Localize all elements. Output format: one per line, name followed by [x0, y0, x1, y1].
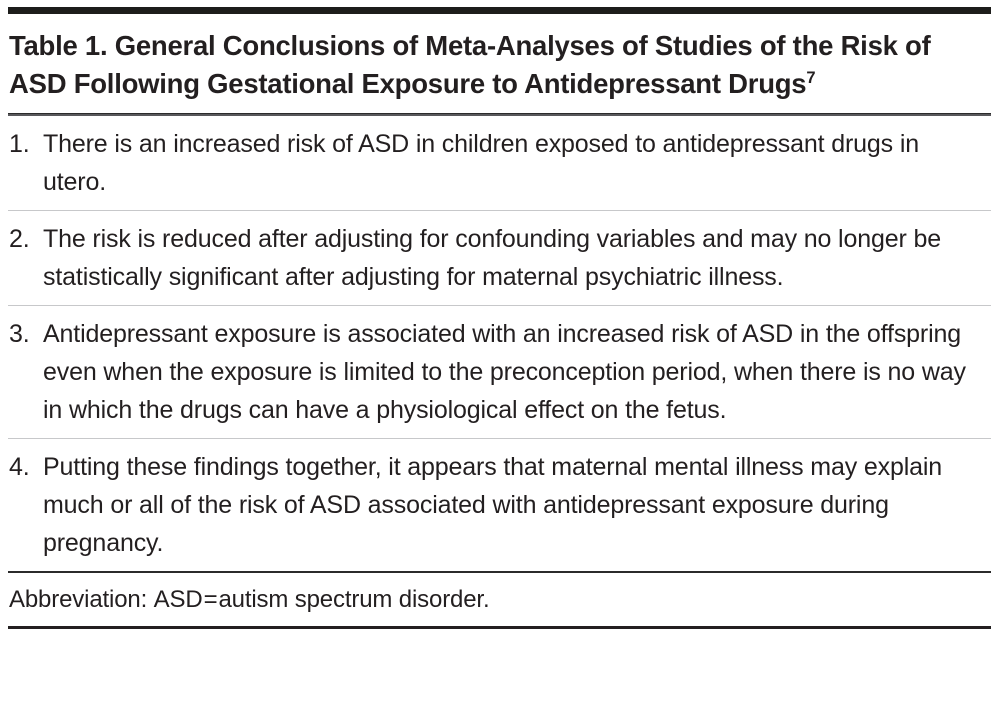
- table-bottom-rule: [8, 626, 991, 629]
- table-row: 2. The risk is reduced after adjusting f…: [8, 211, 991, 305]
- table-footnote: Abbreviation: ASD=autism spectrum disord…: [8, 573, 991, 626]
- row-number: 1.: [9, 125, 43, 163]
- table-row: 1. There is an increased risk of ASD in …: [8, 116, 991, 210]
- row-number: 3.: [9, 315, 43, 353]
- row-text: Antidepressant exposure is associated wi…: [43, 315, 987, 429]
- table-title: Table 1. General Conclusions of Meta-Ana…: [8, 14, 991, 113]
- table-top-rule: [8, 7, 991, 14]
- row-text: There is an increased risk of ASD in chi…: [43, 125, 987, 201]
- footnote-definition: autism spectrum disorder.: [218, 586, 489, 613]
- row-number: 4.: [9, 448, 43, 486]
- table-title-footnote-marker: 7: [806, 69, 815, 87]
- footnote-label: Abbreviation:: [9, 586, 147, 613]
- table-row: 4. Putting these findings together, it a…: [8, 439, 991, 571]
- table-figure: Table 1. General Conclusions of Meta-Ana…: [0, 7, 999, 701]
- row-number: 2.: [9, 220, 43, 258]
- row-text: The risk is reduced after adjusting for …: [43, 220, 987, 296]
- footnote-term: ASD: [154, 586, 203, 613]
- footnote-equals-sign: =: [203, 586, 219, 613]
- row-text: Putting these findings together, it appe…: [43, 448, 987, 562]
- table-row: 3. Antidepressant exposure is associated…: [8, 306, 991, 438]
- table-title-text: Table 1. General Conclusions of Meta-Ana…: [9, 30, 931, 99]
